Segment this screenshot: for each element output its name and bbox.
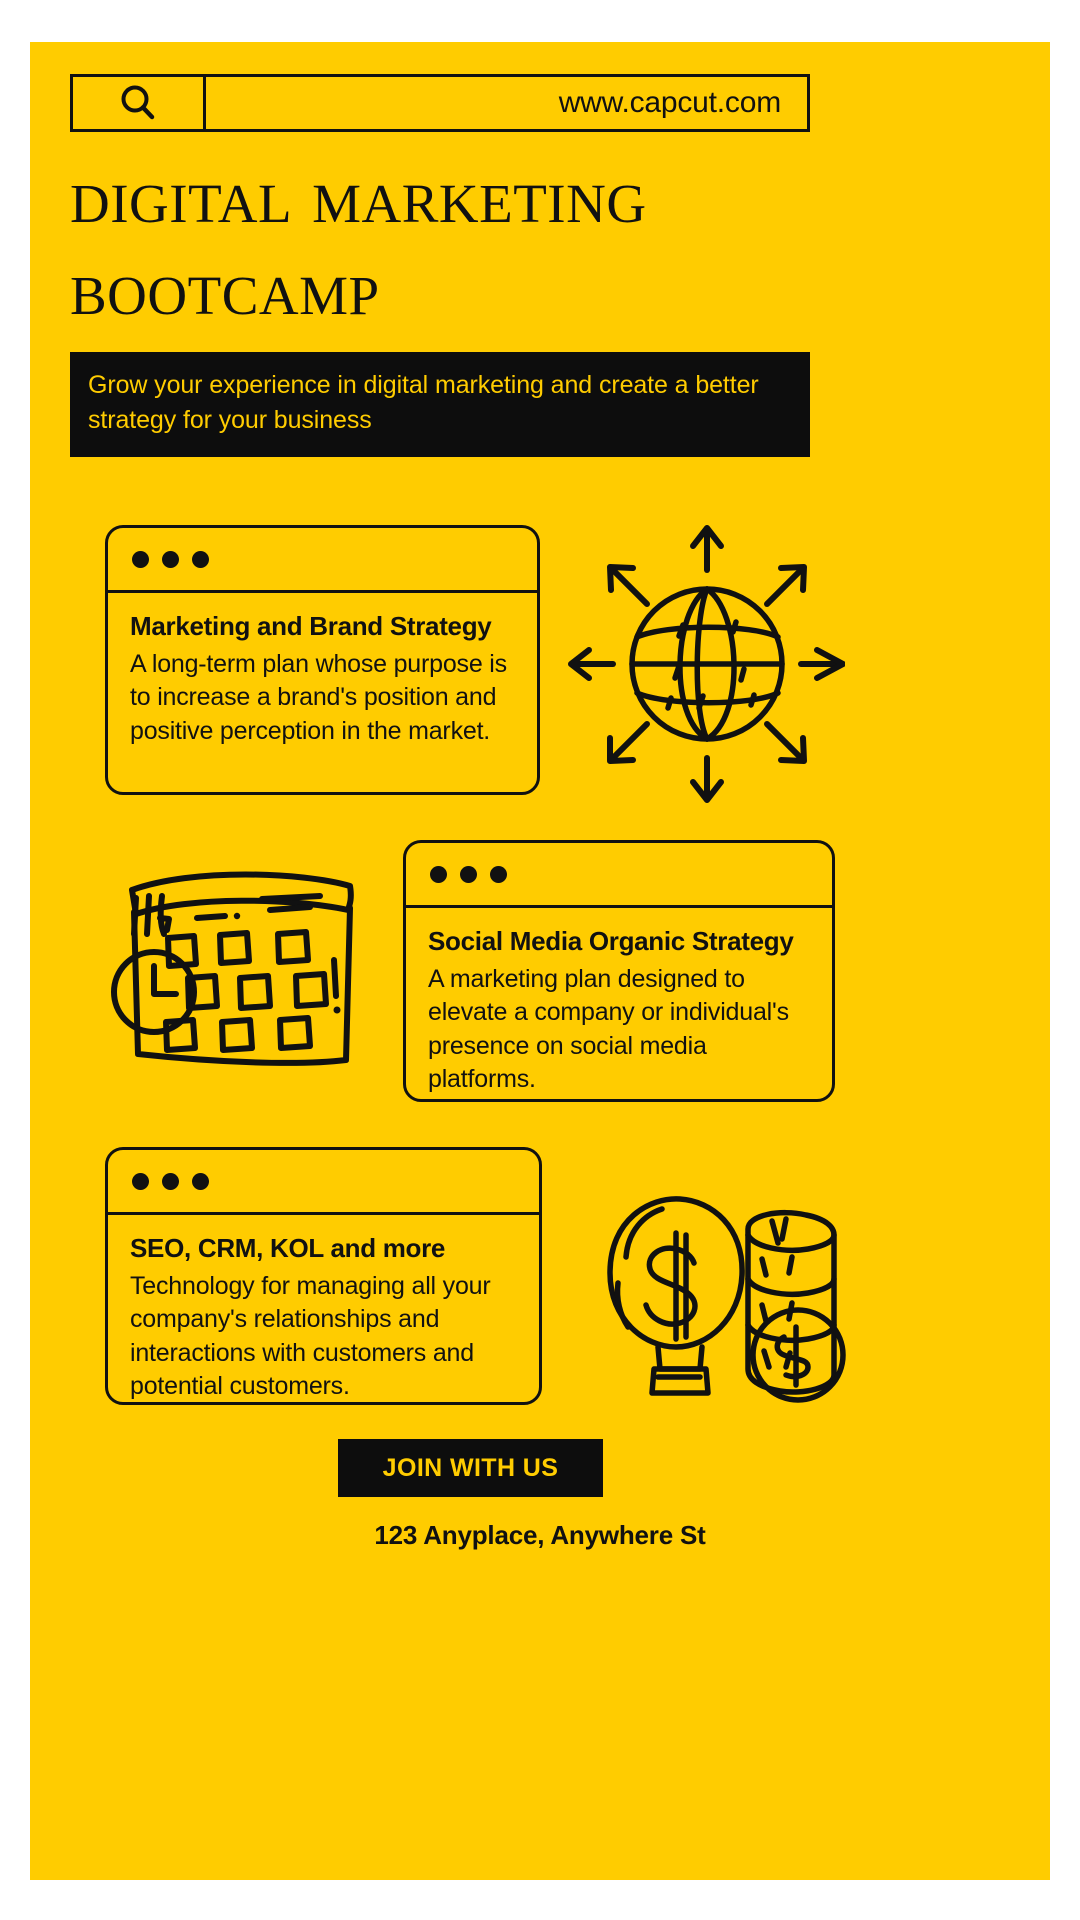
card-body: Marketing and Brand Strategy A long-term… — [108, 593, 537, 764]
globe-with-arrows-icon — [555, 512, 845, 812]
subtitle-text: Grow your experience in digital marketin… — [88, 368, 792, 437]
search-button[interactable] — [73, 77, 206, 129]
feature-card-seo-crm-kol[interactable]: SEO, CRM, KOL and more Technology for ma… — [105, 1147, 542, 1405]
card-description: Technology for managing all your company… — [130, 1270, 517, 1403]
window-dot-icon — [192, 1173, 209, 1190]
card-titlebar — [108, 1150, 539, 1215]
card-titlebar — [406, 843, 832, 908]
card-body: SEO, CRM, KOL and more Technology for ma… — [108, 1215, 539, 1419]
page-title-line-1: Digital Marketing — [70, 150, 870, 242]
card-titlebar — [108, 528, 537, 593]
address-text: 123 Anyplace, Anywhere St — [30, 1520, 1050, 1551]
page-title-line-2: Bootcamp — [70, 242, 870, 334]
card-description: A long-term plan whose purpose is to inc… — [130, 648, 515, 748]
window-dot-icon — [430, 866, 447, 883]
join-with-us-label: JOIN WITH US — [383, 1454, 559, 1483]
search-bar[interactable]: www.capcut.com — [70, 74, 810, 132]
money-balloon-coins-icon — [558, 1187, 848, 1417]
calendar-building-clock-icon — [102, 842, 372, 1102]
card-title: Social Media Organic Strategy — [428, 926, 810, 957]
feature-card-marketing-brand-strategy[interactable]: Marketing and Brand Strategy A long-term… — [105, 525, 540, 795]
card-description: A marketing plan designed to elevate a c… — [428, 963, 810, 1096]
join-with-us-button[interactable]: JOIN WITH US — [338, 1439, 603, 1497]
page-title: Digital Marketing Bootcamp — [70, 150, 870, 334]
card-title: SEO, CRM, KOL and more — [130, 1233, 517, 1264]
feature-card-social-media-organic-strategy[interactable]: Social Media Organic Strategy A marketin… — [403, 840, 835, 1102]
window-dot-icon — [132, 1173, 149, 1190]
url-field[interactable]: www.capcut.com — [206, 77, 807, 129]
window-dot-icon — [162, 551, 179, 568]
subtitle-banner: Grow your experience in digital marketin… — [70, 352, 810, 457]
window-dot-icon — [490, 866, 507, 883]
card-body: Social Media Organic Strategy A marketin… — [406, 908, 832, 1112]
window-dot-icon — [132, 551, 149, 568]
url-text: www.capcut.com — [559, 86, 781, 120]
window-dot-icon — [192, 551, 209, 568]
poster-canvas: www.capcut.com Digital Marketing Bootcam… — [30, 42, 1050, 1880]
card-title: Marketing and Brand Strategy — [130, 611, 515, 642]
search-icon — [116, 81, 160, 125]
window-dot-icon — [162, 1173, 179, 1190]
window-dot-icon — [460, 866, 477, 883]
